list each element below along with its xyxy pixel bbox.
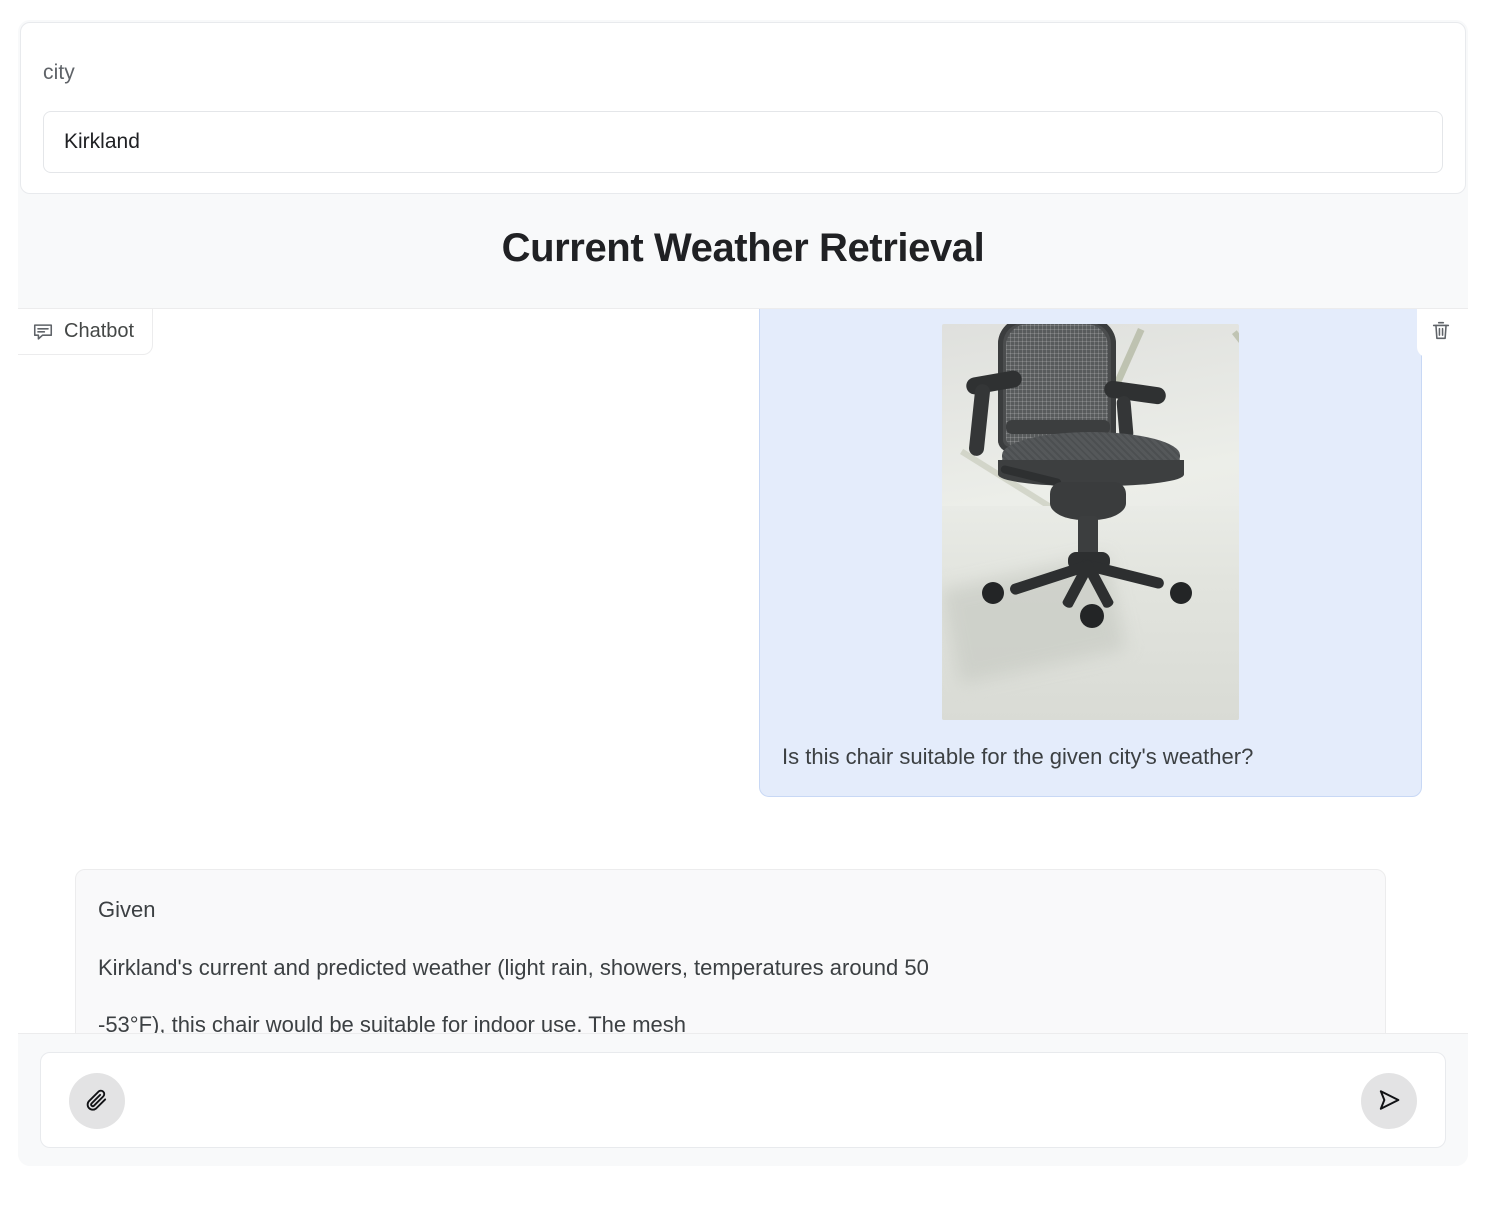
city-input[interactable]: [43, 111, 1443, 173]
user-message: Is this chair suitable for the given cit…: [759, 308, 1422, 797]
paperclip-icon: [83, 1086, 111, 1117]
message-list: Is this chair suitable for the given cit…: [18, 309, 1459, 1034]
composer-area: [18, 1034, 1468, 1166]
chatbot-tab[interactable]: Chatbot: [18, 309, 153, 355]
attach-button[interactable]: [69, 1073, 125, 1129]
page-title: Current Weather Retrieval: [18, 226, 1468, 271]
city-label: city: [43, 61, 75, 85]
trash-icon: [1430, 319, 1452, 347]
bot-message: Given Kirkland's current and predicted w…: [75, 869, 1386, 1034]
user-message-image[interactable]: [942, 324, 1239, 720]
bot-message-line-1: Given: [98, 896, 1363, 924]
chat-bubble-icon: [32, 321, 54, 343]
send-icon: [1375, 1086, 1403, 1117]
send-button[interactable]: [1361, 1073, 1417, 1129]
user-message-text: Is this chair suitable for the given cit…: [760, 720, 1421, 796]
bot-message-line-3: -53°F), this chair would be suitable for…: [98, 1011, 1363, 1034]
composer-input-bar[interactable]: [40, 1052, 1446, 1148]
city-field-card: city: [20, 22, 1466, 194]
bot-message-line-2: Kirkland's current and predicted weather…: [98, 954, 1363, 982]
chat-panel: Chatbot: [18, 308, 1468, 1034]
app-root: city Current Weather Retrieval Chatbot: [18, 20, 1468, 1166]
clear-chat-button[interactable]: [1417, 309, 1465, 357]
chatbot-tab-label: Chatbot: [64, 320, 134, 343]
